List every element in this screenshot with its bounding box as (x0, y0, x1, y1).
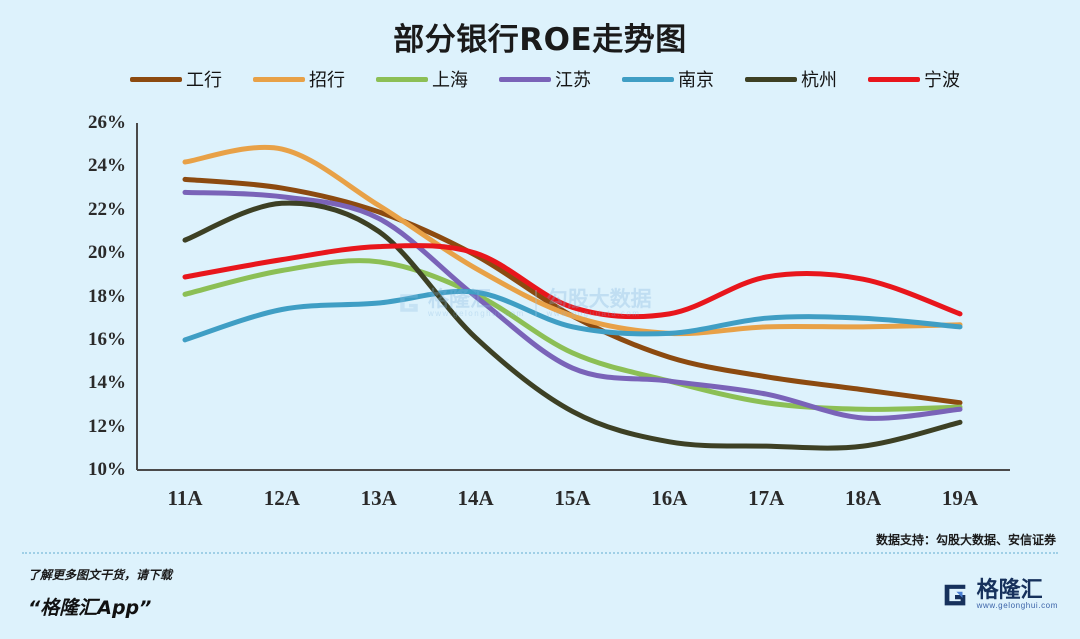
footer-promo: 了解更多图文干货，请下载 “格隆汇App” (28, 566, 172, 620)
y-axis-tick-label: 22% (88, 199, 126, 221)
y-axis-tick-label: 12% (88, 416, 126, 438)
x-axis-tick-label: 19A (942, 486, 978, 511)
y-axis-tick-label: 16% (88, 329, 126, 351)
x-axis-tick-label: 13A (361, 486, 397, 511)
legend-item-上海[interactable]: 上海 (376, 66, 468, 92)
page-title: 部分银行ROE走势图 (0, 14, 1080, 59)
watermark-data-brand: 勾股大数据 (547, 288, 652, 310)
series-line-杭州 (185, 203, 960, 448)
series-line-上海 (185, 261, 960, 410)
x-axis-tick-label: 18A (845, 486, 881, 511)
series-line-招行 (185, 147, 960, 333)
series-line-江苏 (185, 192, 960, 418)
source-note: 数据支持：勾股大数据、安信证券 (876, 531, 1056, 548)
legend-item-label: 招行 (309, 66, 345, 92)
footer-logo-brand: 格隆汇 (977, 580, 1058, 602)
series-line-工行 (185, 179, 960, 402)
footer-divider (22, 552, 1058, 554)
series-line-南京 (185, 291, 960, 340)
x-axis-tick-label: 16A (651, 486, 687, 511)
legend-swatch-icon (745, 77, 797, 82)
series-line-宁波 (185, 246, 960, 317)
legend-item-工行[interactable]: 工行 (130, 66, 222, 92)
legend-item-南京[interactable]: 南京 (622, 66, 714, 92)
watermark-brand-url: www.gelonghui.com (428, 310, 525, 318)
watermark-gogudata: 勾股大数据 www.gogudata.com (547, 288, 652, 318)
watermark-gelonghui-text: 格隆汇 www.gelonghui.com (428, 288, 525, 318)
legend-item-label: 南京 (678, 66, 714, 92)
y-axis-tick-label: 24% (88, 155, 126, 177)
legend-item-招行[interactable]: 招行 (253, 66, 345, 92)
legend-item-label: 上海 (432, 66, 468, 92)
footer-promo-line1: 了解更多图文干货，请下载 (28, 566, 172, 583)
footer-logo-text: 格隆汇 www.gelonghui.com (977, 580, 1058, 610)
watermark-brand: 格隆汇 (428, 288, 525, 310)
legend-item-label: 江苏 (555, 66, 591, 92)
y-axis-tick-label: 20% (88, 242, 126, 264)
watermark: 格隆汇 www.gelonghui.com 勾股大数据 www.gogudata… (395, 288, 652, 318)
chart-legend: 工行招行上海江苏南京杭州宁波 (130, 66, 960, 92)
x-axis-tick-label: 11A (167, 486, 202, 511)
y-axis-tick-label: 18% (88, 286, 126, 308)
chart-page: 部分银行ROE走势图 工行招行上海江苏南京杭州宁波 26%24%22%20%18… (0, 0, 1080, 639)
footer-promo-line2: “格隆汇App” (28, 593, 172, 620)
watermark-divider (535, 290, 537, 316)
watermark-gelonghui: 格隆汇 www.gelonghui.com (395, 288, 525, 318)
legend-swatch-icon (622, 77, 674, 82)
legend-item-label: 杭州 (801, 66, 837, 92)
x-axis-tick-label: 17A (748, 486, 784, 511)
legend-item-江苏[interactable]: 江苏 (499, 66, 591, 92)
x-axis-ticks: 11A12A13A14A15A16A17A18A19A (0, 486, 1080, 516)
legend-item-label: 工行 (186, 66, 222, 92)
gelonghui-mark-icon (940, 580, 970, 610)
legend-swatch-icon (868, 77, 920, 82)
legend-item-杭州[interactable]: 杭州 (745, 66, 837, 92)
watermark-gogudata-text: 勾股大数据 www.gogudata.com (547, 288, 652, 318)
y-axis-tick-label: 26% (88, 112, 126, 134)
x-axis-tick-label: 12A (264, 486, 300, 511)
legend-swatch-icon (499, 77, 551, 82)
gelonghui-logo-icon (395, 289, 423, 317)
watermark-data-url: www.gogudata.com (547, 310, 652, 318)
legend-swatch-icon (376, 77, 428, 82)
footer-logo-url: www.gelonghui.com (977, 602, 1058, 610)
y-axis-tick-label: 10% (88, 459, 126, 481)
legend-swatch-icon (130, 77, 182, 82)
y-axis-tick-label: 14% (88, 372, 126, 394)
footer-logo[interactable]: 格隆汇 www.gelonghui.com (940, 580, 1058, 610)
x-axis-tick-label: 14A (458, 486, 494, 511)
legend-swatch-icon (253, 77, 305, 82)
y-axis-ticks: 26%24%22%20%18%16%14%12%10% (60, 0, 126, 639)
x-axis-tick-label: 15A (554, 486, 590, 511)
legend-item-宁波[interactable]: 宁波 (868, 66, 960, 92)
legend-item-label: 宁波 (924, 66, 960, 92)
